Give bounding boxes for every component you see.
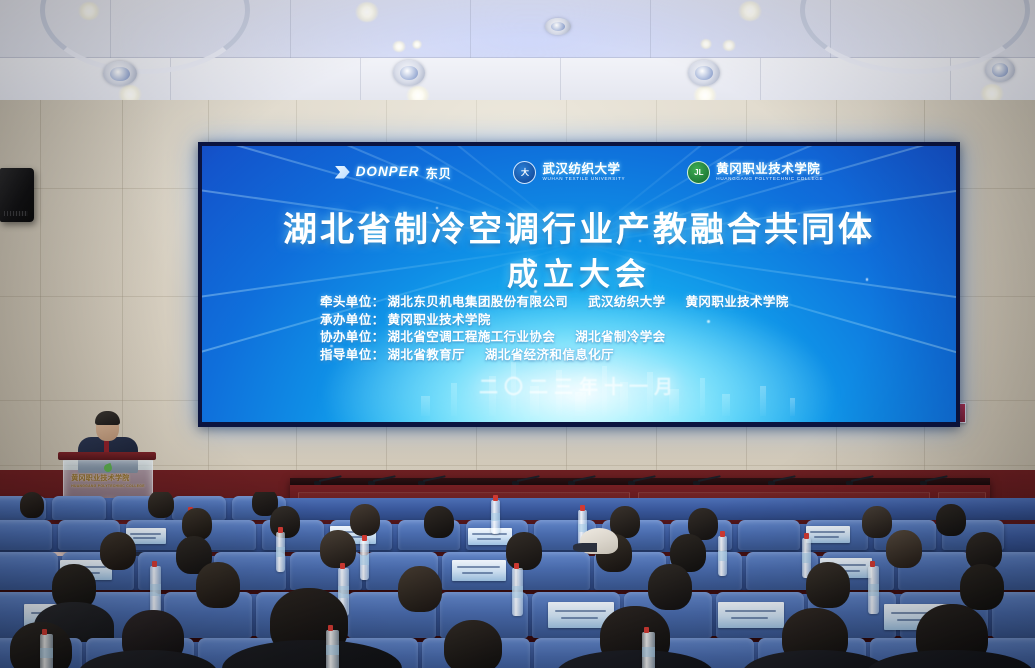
organizer-label: 承办单位： bbox=[320, 313, 385, 327]
hgp-seal-icon: JL bbox=[687, 161, 710, 184]
audience-head bbox=[506, 532, 542, 570]
audience-head bbox=[648, 564, 692, 610]
audience-head bbox=[148, 492, 174, 518]
water-bottle bbox=[512, 568, 523, 616]
organizer-label: 协办单位： bbox=[320, 330, 385, 344]
logo-donper-cn: 东贝 bbox=[425, 163, 451, 182]
microphone-icon bbox=[628, 473, 656, 485]
water-bottle bbox=[40, 634, 53, 668]
ceiling-downlight bbox=[738, 1, 762, 21]
audience-seating bbox=[0, 492, 1035, 668]
ceiling-downlight bbox=[700, 39, 712, 49]
event-date: 二〇二三年十一月 bbox=[202, 372, 956, 399]
seat bbox=[738, 520, 800, 550]
seat-name-card bbox=[718, 602, 784, 628]
microphone-icon bbox=[920, 473, 948, 485]
microphone-icon bbox=[568, 473, 596, 485]
logo-donper-text: DONPER bbox=[356, 165, 420, 179]
organizer-line: 协办单位：湖北省空调工程施工行业协会湖北省制冷学会 bbox=[320, 329, 920, 347]
podium-institution-name: 黄冈职业技术学院 HUANGGANG POLYTECHNIC COLLEGE bbox=[71, 473, 145, 488]
organizer-value: 湖北省制冷学会 bbox=[575, 330, 665, 344]
water-bottle bbox=[868, 566, 879, 614]
event-title-main: 湖北省制冷空调行业产教融合共同体 bbox=[202, 202, 956, 251]
ceiling-downlight bbox=[355, 2, 379, 22]
logo-hgp-cn: 黄冈职业技术学院 bbox=[716, 163, 823, 176]
audience-head bbox=[886, 530, 922, 568]
ceiling-downlight bbox=[412, 40, 422, 49]
audience-head bbox=[424, 506, 454, 538]
ceiling-vent-icon bbox=[103, 61, 137, 86]
microphone-icon bbox=[512, 473, 540, 485]
audience-head bbox=[806, 562, 850, 608]
event-title-sub: 成立大会 bbox=[202, 249, 956, 294]
logo-wtu-en: WUHAN TEXTILE UNIVERSITY bbox=[542, 177, 625, 182]
organizer-value: 湖北东贝机电集团股份有限公司 bbox=[388, 295, 569, 309]
organizer-label: 牵头单位： bbox=[320, 295, 385, 309]
audience-head bbox=[20, 492, 44, 518]
ceiling-vent-icon bbox=[393, 60, 425, 86]
audience-head bbox=[398, 566, 442, 612]
logo-huanggang-polytechnic: JL 黄冈职业技术学院 HUANGGANG POLYTECHNIC COLLEG… bbox=[687, 161, 823, 184]
organizer-line: 牵头单位：湖北东贝机电集团股份有限公司武汉纺织大学黄冈职业技术学院 bbox=[320, 294, 920, 312]
audience-head bbox=[862, 506, 892, 538]
seat-name-card bbox=[452, 560, 506, 581]
audience-head bbox=[196, 562, 240, 608]
organizer-value: 湖北省经济和信息化厅 bbox=[485, 348, 614, 362]
ceiling-downlight bbox=[722, 40, 736, 51]
ceiling-vent-icon bbox=[688, 60, 720, 86]
logo-donper: DONPER 东贝 bbox=[335, 163, 452, 182]
ceiling-downlight bbox=[392, 41, 406, 52]
audience-head bbox=[270, 506, 300, 538]
donper-chevron-icon bbox=[335, 166, 350, 179]
ceiling-downlight bbox=[78, 2, 100, 20]
ceiling-vent-icon bbox=[985, 58, 1015, 82]
water-bottle bbox=[360, 540, 369, 580]
microphone-icon bbox=[418, 473, 446, 485]
organizer-line: 承办单位：黄冈职业技术学院 bbox=[320, 312, 920, 330]
logo-wtu-cn: 武汉纺织大学 bbox=[542, 163, 625, 176]
seat bbox=[0, 520, 52, 550]
wall-speaker-icon bbox=[0, 168, 34, 222]
ceiling-vent-icon bbox=[545, 18, 571, 35]
audience-head bbox=[100, 532, 136, 570]
organizer-value: 湖北省教育厅 bbox=[388, 348, 465, 362]
seat-name-card bbox=[468, 528, 512, 545]
audience-head bbox=[960, 564, 1004, 610]
baseball-cap bbox=[580, 528, 618, 554]
conference-hall-photo: DONPER 东贝 大 武汉纺织大学 WUHAN TEXTILE UNIVERS… bbox=[0, 0, 1035, 668]
organizer-label: 指导单位： bbox=[320, 348, 385, 362]
water-bottle bbox=[150, 566, 161, 614]
organizer-value: 黄冈职业技术学院 bbox=[686, 295, 789, 309]
wtu-seal-icon: 大 bbox=[513, 161, 536, 184]
organizer-value: 湖北省空调工程施工行业协会 bbox=[388, 330, 556, 344]
water-bottle bbox=[326, 630, 339, 668]
led-screen: DONPER 东贝 大 武汉纺织大学 WUHAN TEXTILE UNIVERS… bbox=[198, 142, 960, 427]
water-bottle bbox=[491, 500, 500, 534]
audience-head bbox=[350, 504, 380, 536]
organizer-block: 牵头单位：湖北东贝机电集团股份有限公司武汉纺织大学黄冈职业技术学院 承办单位：黄… bbox=[320, 294, 920, 364]
water-bottle bbox=[718, 536, 727, 576]
audience-head bbox=[936, 504, 966, 536]
water-bottle bbox=[276, 532, 285, 572]
seat bbox=[52, 496, 106, 520]
organizer-value: 黄冈职业技术学院 bbox=[388, 313, 491, 327]
microphone-icon bbox=[846, 473, 874, 485]
organizer-value: 武汉纺织大学 bbox=[588, 295, 665, 309]
microphone-icon bbox=[314, 473, 342, 485]
audience-head bbox=[320, 530, 356, 568]
organizer-line: 指导单位：湖北省教育厅湖北省经济和信息化厅 bbox=[320, 347, 920, 365]
led-screen-content: DONPER 东贝 大 武汉纺织大学 WUHAN TEXTILE UNIVERS… bbox=[202, 146, 956, 422]
audience-head-foreground bbox=[444, 620, 502, 668]
logo-hgp-en: HUANGGANG POLYTECHNIC COLLEGE bbox=[716, 177, 823, 182]
microphone-icon bbox=[368, 473, 396, 485]
speaker-hair bbox=[95, 411, 120, 425]
sponsor-logo-row: DONPER 东贝 大 武汉纺织大学 WUHAN TEXTILE UNIVERS… bbox=[202, 155, 956, 189]
water-bottle bbox=[642, 632, 655, 668]
podium-leaf-icon bbox=[103, 463, 113, 473]
microphone-icon bbox=[768, 473, 796, 485]
logo-wuhan-textile-university: 大 武汉纺织大学 WUHAN TEXTILE UNIVERSITY bbox=[513, 161, 625, 184]
microphone-icon bbox=[693, 473, 721, 485]
seat bbox=[0, 552, 58, 590]
seat-name-card bbox=[806, 526, 850, 543]
